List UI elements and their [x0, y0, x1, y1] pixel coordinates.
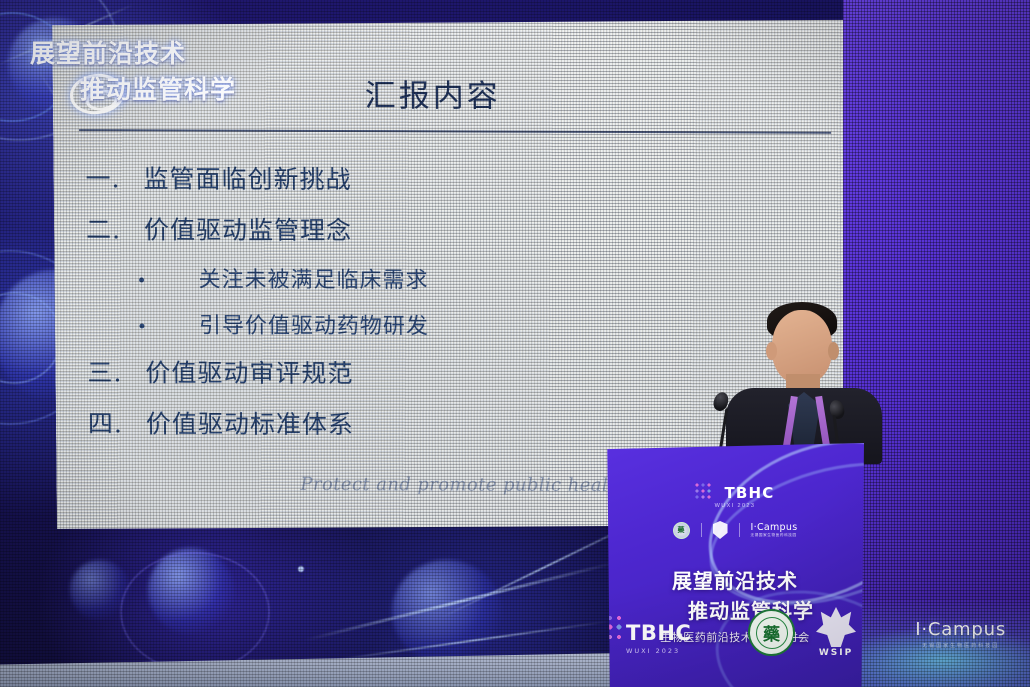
agenda-label: 价值驱动标准体系	[146, 404, 354, 441]
agenda-item: 四. 价值驱动标准体系	[88, 404, 788, 442]
speaker-ear	[828, 342, 839, 360]
speaker-presenter	[716, 300, 891, 460]
agenda-sub-item: • 引导价值驱动药物研发	[87, 307, 787, 341]
podium-partner-logos: 藥 I·Campus 无锡国家生物医药科技园	[606, 521, 864, 539]
divider	[739, 523, 740, 537]
agenda-item: 一. 监管面临创新挑战	[85, 159, 785, 197]
agenda-label: 关注未被满足临床需求	[198, 262, 428, 295]
agenda-number: 三.	[87, 353, 145, 389]
icampus-main-label: I·Campus	[915, 619, 1006, 640]
slide-title-divider	[79, 129, 831, 133]
podium-headline-line-1: 展望前沿技术	[606, 565, 864, 594]
agenda-sub-item: • 关注未被满足临床需求	[86, 261, 786, 295]
slide-footer-tagline: Protect and promote public health	[300, 474, 627, 496]
wsip-label: WSIP	[816, 648, 856, 658]
icampus-sublabel: 无锡国家生物医药科技园	[751, 533, 798, 538]
lotus-icon	[816, 607, 856, 647]
podium-brand-sub: WUXI 2023	[606, 503, 864, 509]
seal-character: 藥	[756, 617, 788, 649]
molecule-ring	[120, 552, 270, 672]
agenda-label: 价值驱动审评规范	[145, 353, 353, 390]
wsip-logo: WSIP	[816, 607, 856, 658]
slide-agenda-list: 一. 监管面临创新挑战 二. 价值驱动监管理念 • 关注未被满足临床需求 • 引…	[85, 159, 788, 457]
shield-icon	[713, 521, 728, 539]
banner-dash: —	[793, 629, 806, 644]
conference-photo-scene: 汇报内容 一. 监管面临创新挑战 二. 价值驱动监管理念 • 关注未被满足临床需…	[0, 0, 1030, 687]
speaker-ear	[766, 342, 777, 360]
cpu-green-seal-icon: 藥	[748, 609, 795, 656]
agenda-label: 引导价值驱动药物研发	[199, 308, 429, 341]
podium-banner-brand: TBHC WUXI 2023	[626, 621, 691, 655]
agenda-number: 二.	[86, 210, 144, 246]
agenda-bullet: •	[136, 271, 198, 291]
icampus-sub-label: 无锡国家生物医药科技园	[915, 642, 1006, 649]
icampus-branding: I·Campus 无锡国家生物医药科技园	[915, 619, 1006, 649]
icampus-label: I·Campus	[751, 522, 798, 533]
podium: TBHC WUXI 2023 藥 I·Campus 无锡国家生物医药科技园 展望…	[606, 443, 864, 687]
slide-title: 汇报内容	[364, 70, 500, 115]
speaker-head	[772, 310, 832, 384]
agenda-number: 四.	[88, 404, 146, 440]
agenda-bullet: •	[137, 317, 199, 337]
divider	[701, 523, 702, 537]
podium-brand-name: TBHC	[724, 484, 774, 502]
podium-banner-brand-name: TBHC	[626, 621, 691, 645]
agenda-label: 价值驱动监管理念	[144, 210, 352, 247]
accent-dot	[298, 566, 304, 572]
icampus-logo-small: I·Campus 无锡国家生物医药科技园	[751, 522, 798, 538]
podium-brand-row: TBHC	[606, 483, 864, 503]
agenda-item: 三. 价值驱动审评规范	[87, 353, 787, 391]
agenda-item: 二. 价值驱动监管理念	[86, 210, 786, 248]
tbhc-dot-matrix-icon	[695, 483, 717, 503]
agenda-label: 监管面临创新挑战	[143, 159, 351, 196]
pharma-seal-icon: 藥	[673, 522, 690, 539]
podium-banner-brand-sub: WUXI 2023	[626, 647, 691, 655]
agenda-number: 一.	[85, 159, 143, 195]
